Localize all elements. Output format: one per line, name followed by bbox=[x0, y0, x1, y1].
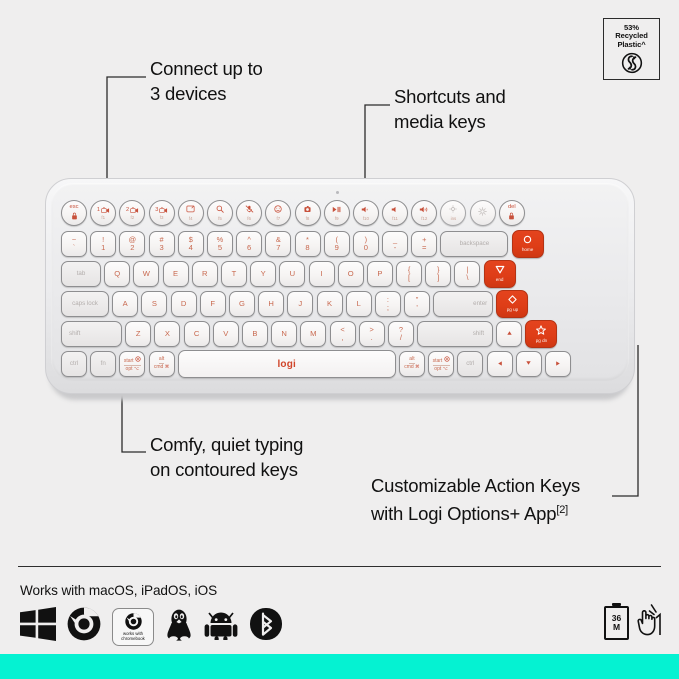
recycled-plastic-badge: 53% Recycled Plastic^ bbox=[603, 18, 660, 80]
key-t[interactable]: T bbox=[221, 261, 247, 287]
snipping-tool-icon[interactable]: f8 bbox=[295, 200, 321, 226]
key-o[interactable]: O bbox=[338, 261, 364, 287]
infographic-stage: 53% Recycled Plastic^ Connect up to 3 de… bbox=[0, 0, 679, 679]
device-3-icon[interactable]: 3f3 bbox=[149, 200, 175, 226]
arrow-left-key[interactable] bbox=[487, 351, 513, 377]
teal-accent-bar bbox=[0, 654, 679, 679]
footer-divider bbox=[18, 566, 661, 567]
fn-key[interactable]: fn bbox=[90, 351, 116, 377]
key-=[interactable]: += bbox=[411, 231, 437, 257]
volume-mute-icon[interactable]: f11 bbox=[382, 200, 408, 226]
key-quote[interactable]: "' bbox=[404, 291, 430, 317]
brightness-down-icon[interactable]: ins bbox=[440, 200, 466, 226]
os-icon-list: works with chromebook bbox=[20, 606, 283, 647]
key-f[interactable]: F bbox=[200, 291, 226, 317]
callout-shortcuts-media: Shortcuts and media keys bbox=[394, 84, 506, 134]
bluetooth-icon bbox=[249, 606, 283, 647]
callout-connect-devices: Connect up to 3 devices bbox=[150, 56, 263, 106]
hand-touch-icon bbox=[633, 604, 661, 641]
key-1[interactable]: !1 bbox=[90, 231, 116, 257]
key-p[interactable]: P bbox=[367, 261, 393, 287]
left-shift-key[interactable]: shift bbox=[61, 321, 122, 347]
search-icon[interactable]: f5 bbox=[207, 200, 233, 226]
key-bracket-right[interactable]: }] bbox=[425, 261, 451, 287]
play-pause-icon[interactable]: f9 bbox=[324, 200, 350, 226]
compatibility-title: Works with macOS, iPadOS, iOS bbox=[20, 583, 217, 598]
key-u[interactable]: U bbox=[279, 261, 305, 287]
key-semicolon[interactable]: :; bbox=[375, 291, 401, 317]
key-backslash[interactable]: |\ bbox=[454, 261, 480, 287]
emoji-icon[interactable]: f7 bbox=[265, 200, 291, 226]
status-led bbox=[336, 191, 339, 194]
right-shift-key[interactable]: shift bbox=[417, 321, 493, 347]
key-v[interactable]: V bbox=[213, 321, 239, 347]
key-c[interactable]: C bbox=[184, 321, 210, 347]
battery-unit: M bbox=[613, 623, 620, 632]
action-key-pgdn[interactable]: pg dn bbox=[525, 320, 557, 348]
action-key-pgup[interactable]: pg up bbox=[496, 290, 528, 318]
device-2-icon[interactable]: 2f2 bbox=[119, 200, 145, 226]
key-i[interactable]: I bbox=[309, 261, 335, 287]
key-d[interactable]: D bbox=[171, 291, 197, 317]
key-l[interactable]: L bbox=[346, 291, 372, 317]
key-w[interactable]: W bbox=[133, 261, 159, 287]
enter-key[interactable]: enter bbox=[433, 291, 493, 317]
tab-key[interactable]: tab bbox=[61, 261, 101, 287]
ctrl-key-right[interactable]: ctrl bbox=[457, 351, 483, 377]
escape-lock-icon[interactable]: esc bbox=[61, 200, 87, 226]
key-y[interactable]: Y bbox=[250, 261, 276, 287]
recycling-arrows-icon bbox=[621, 52, 643, 79]
arrow-right-key[interactable] bbox=[545, 351, 571, 377]
key-bracket-left[interactable]: {[ bbox=[396, 261, 422, 287]
key-j[interactable]: J bbox=[287, 291, 313, 317]
key-k[interactable]: K bbox=[317, 291, 343, 317]
key-r[interactable]: R bbox=[192, 261, 218, 287]
key-3[interactable]: #3 bbox=[149, 231, 175, 257]
space-bar[interactable]: logi bbox=[178, 350, 396, 378]
key-6[interactable]: ^6 bbox=[236, 231, 262, 257]
key-g[interactable]: G bbox=[229, 291, 255, 317]
function-key-row: esc1f12f23f3f4f5f6f7f8f9f10f11f12insdel bbox=[61, 200, 528, 226]
key--[interactable]: _- bbox=[382, 231, 408, 257]
callout-action-keys-text: Customizable Action Keys with Logi Optio… bbox=[371, 475, 580, 524]
home-key-row: caps lockASDFGHJKL:;"'enterpg up bbox=[61, 290, 528, 318]
key-5[interactable]: %5 bbox=[207, 231, 233, 257]
start-opt-key-right[interactable]: start opt ⌥ bbox=[428, 351, 454, 377]
action-key-home[interactable]: home bbox=[512, 230, 544, 258]
number-key-row: ~`!1@2#3$4%5^6&7*8(9)0_-+=backspacehome bbox=[61, 230, 544, 258]
alt-cmd-key[interactable]: alt cmd ⌘ bbox=[149, 351, 175, 377]
key-7[interactable]: &7 bbox=[265, 231, 291, 257]
key-n[interactable]: N bbox=[271, 321, 297, 347]
bottom-key-row: ctrlfnstart opt ⌥alt cmd ⌘logialt cmd ⌘s… bbox=[61, 350, 574, 378]
key-period[interactable]: >. bbox=[359, 321, 385, 347]
key-8[interactable]: *8 bbox=[295, 231, 321, 257]
android-icon bbox=[204, 608, 238, 645]
key-x[interactable]: X bbox=[154, 321, 180, 347]
arrow-up-key[interactable] bbox=[496, 321, 522, 347]
volume-down-icon[interactable]: f10 bbox=[353, 200, 379, 226]
start-opt-key[interactable]: start opt ⌥ bbox=[119, 351, 145, 377]
battery-icon: 36 M bbox=[604, 606, 629, 640]
mic-mute-icon[interactable]: f6 bbox=[236, 200, 262, 226]
dictation-icon[interactable]: f4 bbox=[178, 200, 204, 226]
arrow-down-key[interactable] bbox=[516, 351, 542, 377]
chrome-icon bbox=[67, 607, 101, 646]
shift-key-row: shiftZXCVBNM<,>.?/shiftpg dn bbox=[61, 320, 557, 348]
windows-icon bbox=[20, 607, 56, 646]
key-slash[interactable]: ?/ bbox=[388, 321, 414, 347]
key-m[interactable]: M bbox=[300, 321, 326, 347]
works-with-chromebook-badge: works with chromebook bbox=[112, 608, 154, 646]
callout-action-keys-footnote: [2] bbox=[556, 504, 568, 516]
linux-tux-icon bbox=[165, 606, 193, 647]
caps-lock-key[interactable]: caps lock bbox=[61, 291, 109, 317]
action-key-end[interactable]: end bbox=[484, 260, 516, 288]
battery-life-indicator: 36 M bbox=[604, 604, 661, 641]
recycled-label-2: Plastic^ bbox=[617, 41, 645, 49]
keyboard: esc1f12f23f3f4f5f6f7f8f9f10f11f12insdel … bbox=[45, 178, 635, 404]
key-q[interactable]: Q bbox=[104, 261, 130, 287]
ctrl-key-left[interactable]: ctrl bbox=[61, 351, 87, 377]
key-2[interactable]: @2 bbox=[119, 231, 145, 257]
key-s[interactable]: S bbox=[141, 291, 167, 317]
key-comma[interactable]: <, bbox=[330, 321, 356, 347]
device-1-icon[interactable]: 1f1 bbox=[90, 200, 116, 226]
key-backtick[interactable]: ~` bbox=[61, 231, 87, 257]
delete-key[interactable]: del bbox=[499, 200, 525, 226]
key-4[interactable]: $4 bbox=[178, 231, 204, 257]
key-h[interactable]: H bbox=[258, 291, 284, 317]
key-9[interactable]: (9 bbox=[324, 231, 350, 257]
backspace-key[interactable]: backspace bbox=[440, 231, 508, 257]
brightness-up-icon[interactable] bbox=[470, 200, 496, 226]
callout-action-keys: Customizable Action Keys with Logi Optio… bbox=[371, 473, 580, 526]
key-z[interactable]: Z bbox=[125, 321, 151, 347]
key-a[interactable]: A bbox=[112, 291, 138, 317]
chromebook-badge-line-2: chromebook bbox=[121, 636, 145, 641]
key-e[interactable]: E bbox=[163, 261, 189, 287]
qwerty-key-row: tabQWERTYUIOP{[}]|\end bbox=[61, 260, 516, 288]
volume-up-icon[interactable]: f12 bbox=[411, 200, 437, 226]
key-0[interactable]: )0 bbox=[353, 231, 379, 257]
key-b[interactable]: B bbox=[242, 321, 268, 347]
callout-comfy-typing: Comfy, quiet typing on contoured keys bbox=[150, 432, 303, 482]
alt-cmd-key-right[interactable]: alt cmd ⌘ bbox=[399, 351, 425, 377]
